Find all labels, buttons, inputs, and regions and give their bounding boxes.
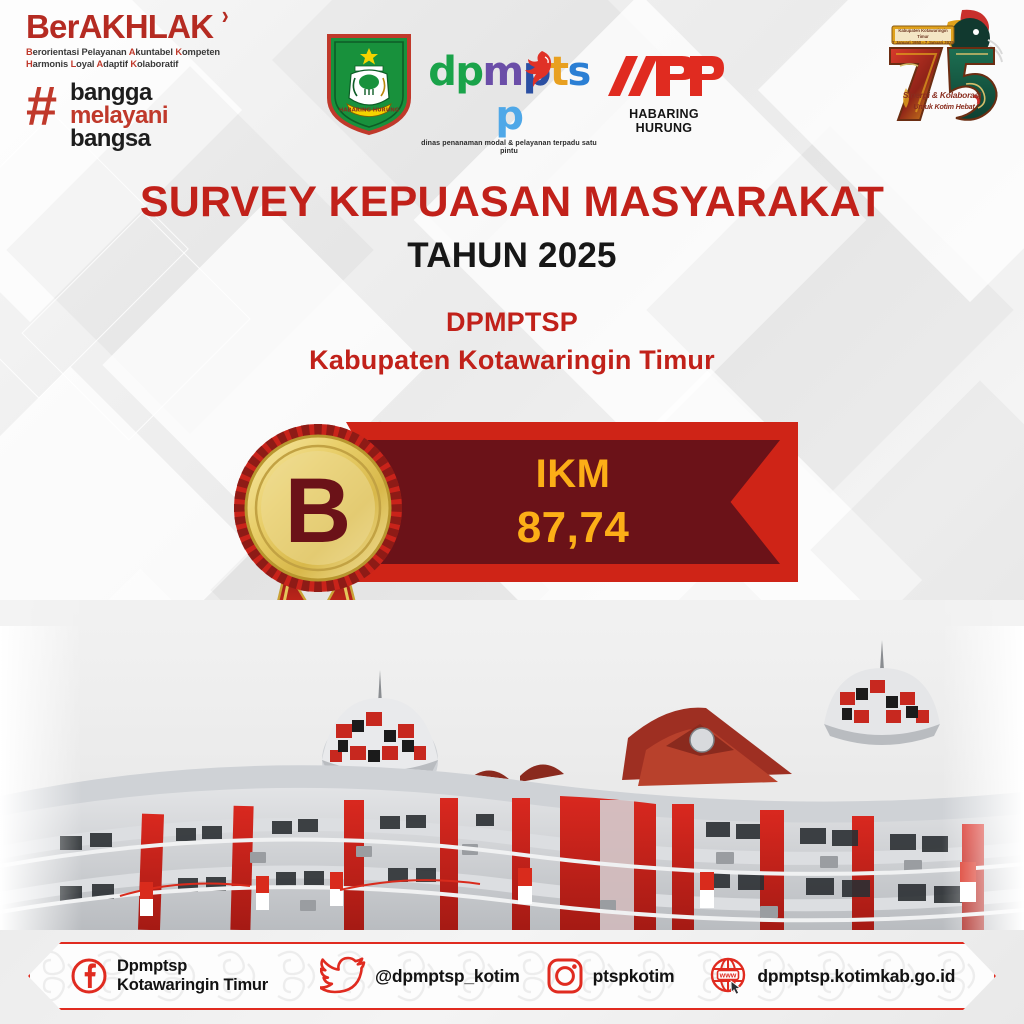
anniversary-mini-line1: Kabupaten Kotawaringin Timur bbox=[892, 28, 954, 40]
dpmptsp-letter-d: d bbox=[428, 50, 455, 94]
org-acronym: DPMPTSP bbox=[0, 304, 1024, 340]
www-label: www bbox=[719, 971, 737, 980]
subtitle-year: TAHUN 2025 bbox=[0, 232, 1024, 280]
footer-facebook-text: Dpmptsp Kotawaringin Timur bbox=[117, 957, 268, 995]
dpmptsp-letter-p1: p bbox=[455, 50, 482, 94]
twitter-icon bbox=[320, 956, 366, 996]
footer-facebook-line2: Kotawaringin Timur bbox=[117, 976, 268, 995]
anniversary-mini-text: Kabupaten Kotawaringin Timur 7 Januari 1… bbox=[892, 28, 954, 46]
footer-item-instagram[interactable]: ptspkotim bbox=[546, 957, 675, 995]
header-logos: BerAKHLAK › Berorientasi Pelayanan Akunt… bbox=[0, 0, 1024, 152]
berakhlak-tick-icon: › bbox=[222, 2, 228, 28]
kotawaringin-timur-coat-of-arms-icon: HABARING HURUNG bbox=[325, 32, 413, 136]
footer-item-facebook[interactable]: Dpmptsp Kotawaringin Timur bbox=[70, 957, 268, 995]
anniversary-tagline-1: Sinergi & Kolaborasi bbox=[894, 90, 990, 100]
poster-canvas: BerAKHLAK › Berorientasi Pelayanan Akunt… bbox=[0, 0, 1024, 1024]
bangga-line-1: bangga bbox=[70, 81, 276, 104]
footer-items: Dpmptsp Kotawaringin Timur @dpmptsp_koti… bbox=[28, 942, 996, 1010]
anniversary-75-logo: Kabupaten Kotawaringin Timur 7 Januari 1… bbox=[870, 4, 1012, 146]
berakhlak-word-ber: Ber bbox=[26, 8, 79, 45]
medal-grade-letter: B bbox=[285, 460, 351, 562]
berakhlak-values: Berorientasi Pelayanan Akuntabel Kompete… bbox=[26, 46, 276, 71]
bangga-line-3: bangsa bbox=[70, 127, 276, 150]
bangga-melayani-bangsa-logo: # bangga melayani bangsa bbox=[26, 81, 276, 150]
dpmptsp-wordmark: dpmptsp bbox=[416, 50, 602, 138]
anniversary-mini-line2: 7 Januari 1950 - 7 Januari 2025 bbox=[892, 40, 954, 46]
dpmptsp-fish-ornament-icon bbox=[512, 48, 558, 92]
main-title: SURVEY KEPUASAN MASYARAKAT bbox=[0, 176, 1024, 228]
anniversary-tagline-2: Untuk Kotim Hebat bbox=[896, 102, 992, 111]
footer-instagram-handle: ptspkotim bbox=[593, 966, 675, 987]
berakhlak-wordmark: BerAKHLAK › bbox=[26, 10, 213, 43]
ikm-value: 87,74 bbox=[388, 500, 758, 556]
dpmptsp-letter-s: s bbox=[567, 50, 589, 94]
office-building-photo bbox=[0, 600, 1024, 930]
facebook-icon bbox=[70, 957, 108, 995]
berakhlak-word-akhlak: AKHLAK bbox=[79, 8, 214, 45]
hashtag-icon: # bbox=[26, 83, 57, 129]
mpp-mark-icon bbox=[604, 52, 724, 100]
banner-text-group: IKM 87,74 bbox=[388, 448, 758, 556]
footer-contact-bar: Dpmptsp Kotawaringin Timur @dpmptsp_koti… bbox=[28, 942, 996, 1010]
bangga-line-2: melayani bbox=[70, 104, 276, 127]
org-region: Kabupaten Kotawaringin Timur bbox=[0, 342, 1024, 378]
footer-item-website[interactable]: www dpmptsp.kotimkab.go.id bbox=[708, 956, 955, 996]
footer-twitter-handle: @dpmptsp_kotim bbox=[375, 966, 520, 987]
dpmptsp-letter-p3: p bbox=[495, 94, 522, 138]
mpp-logo: HABARING HURUNG bbox=[604, 52, 724, 135]
svg-text:HABARING HURUNG: HABARING HURUNG bbox=[339, 108, 400, 114]
dpmptsp-logo: dpmptsp dinas penanaman modal & pelayana… bbox=[416, 50, 602, 155]
footer-facebook-line1: Dpmptsp bbox=[117, 957, 268, 976]
berakhlak-logo: BerAKHLAK › Berorientasi Pelayanan Akunt… bbox=[26, 10, 276, 150]
website-icon: www bbox=[708, 956, 748, 996]
dpmptsp-tagline: dinas penanaman modal & pelayanan terpad… bbox=[416, 139, 602, 155]
mpp-subtitle: HABARING HURUNG bbox=[604, 107, 724, 135]
footer-item-twitter[interactable]: @dpmptsp_kotim bbox=[320, 956, 520, 996]
ikm-label: IKM bbox=[388, 448, 758, 500]
title-block: SURVEY KEPUASAN MASYARAKAT TAHUN 2025 DP… bbox=[0, 176, 1024, 378]
instagram-icon bbox=[546, 957, 584, 995]
award-banner: IKM 87,74 bbox=[228, 418, 798, 586]
footer-website-url: dpmptsp.kotimkab.go.id bbox=[757, 966, 955, 987]
